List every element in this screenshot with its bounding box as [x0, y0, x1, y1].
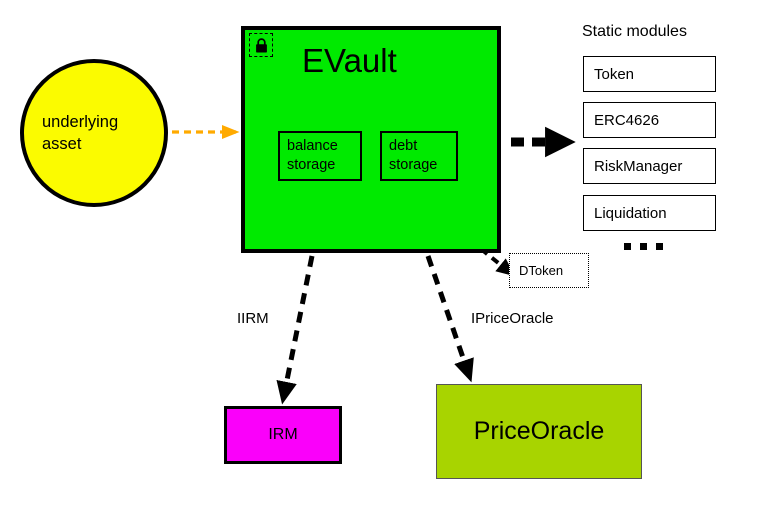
edge-label-ipriceoracle: IPriceOracle: [471, 310, 554, 327]
ellipsis-dot: [656, 243, 663, 250]
dtoken-label: DToken: [510, 263, 563, 278]
node-irm[interactable]: IRM: [224, 406, 342, 464]
edge-vault-to-oracle: [428, 256, 470, 378]
edge-label-iirm: IIRM: [237, 310, 269, 327]
static-modules-title: Static modules: [582, 23, 687, 41]
underlying-asset-label: underlying asset: [24, 111, 118, 156]
static-module-label: RiskManager: [584, 158, 682, 175]
edge-vault-to-irm: [283, 256, 312, 400]
ellipsis-dot: [640, 243, 647, 250]
static-module-label: Liquidation: [584, 205, 667, 222]
evault-title: EVault: [302, 42, 397, 80]
static-modules-ellipsis: [624, 243, 663, 250]
static-module-riskmanager[interactable]: RiskManager: [583, 148, 716, 184]
irm-label: IRM: [268, 426, 297, 444]
node-underlying-asset[interactable]: underlying asset: [20, 59, 168, 207]
static-module-liquidation[interactable]: Liquidation: [583, 195, 716, 231]
ellipsis-dot: [624, 243, 631, 250]
lock-icon: [249, 33, 273, 57]
static-module-label: Token: [584, 66, 634, 83]
debt-storage-box[interactable]: debt storage: [380, 131, 458, 181]
static-module-token[interactable]: Token: [583, 56, 716, 92]
node-price-oracle[interactable]: PriceOracle: [436, 384, 642, 479]
node-evault[interactable]: EVault balance storage debt storage: [241, 26, 501, 253]
balance-storage-box[interactable]: balance storage: [278, 131, 362, 181]
lock-glyph: [255, 38, 268, 53]
debt-storage-label: debt storage: [382, 137, 437, 175]
diagram-canvas: underlying asset EVault balance storage …: [0, 0, 776, 513]
static-module-label: ERC4626: [584, 112, 659, 129]
static-module-erc4626[interactable]: ERC4626: [583, 102, 716, 138]
price-oracle-label: PriceOracle: [474, 417, 605, 446]
balance-storage-label: balance storage: [280, 137, 338, 175]
node-dtoken[interactable]: DToken: [509, 253, 589, 288]
